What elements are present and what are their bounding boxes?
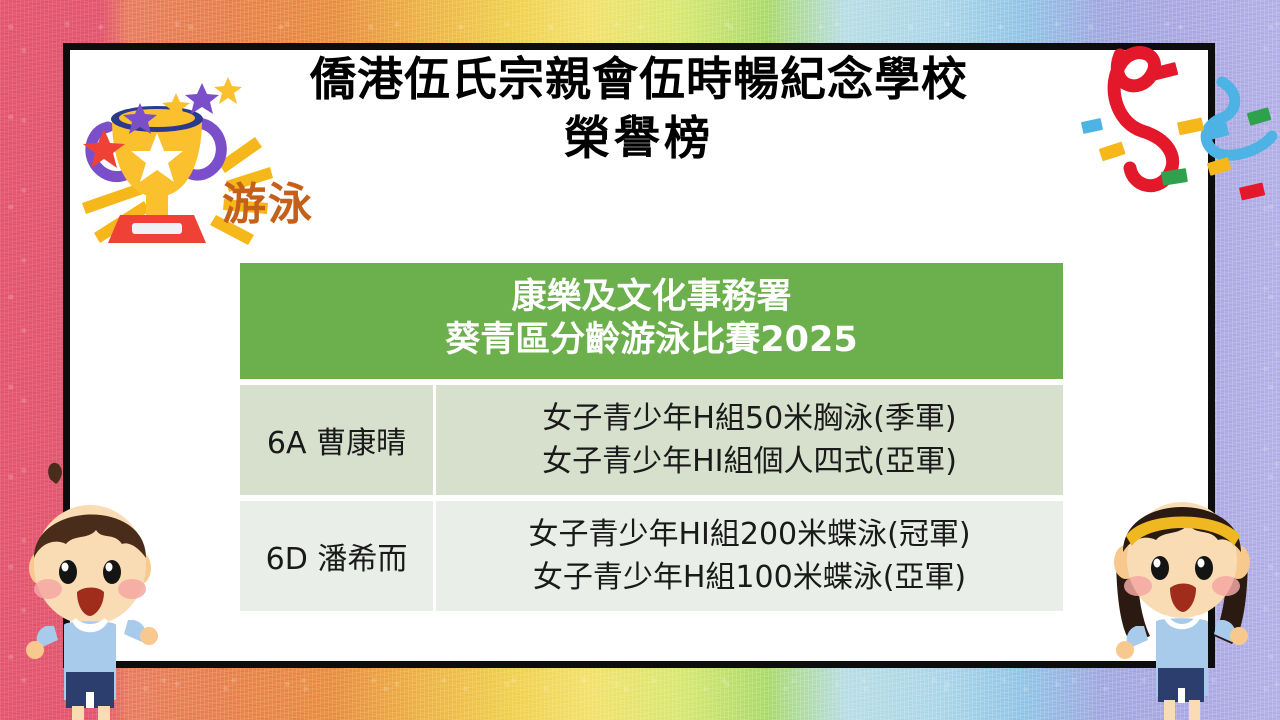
event-entry: 女子青少年HI組個人四式(亞軍)	[444, 440, 1055, 483]
girl-character-icon	[1098, 440, 1273, 720]
header-line-1: 康樂及文化事務署	[250, 276, 1053, 319]
boy-character-icon	[6, 440, 186, 720]
trophy-stem-icon	[146, 195, 168, 217]
event-entry: 女子青少年HI組200米蝶泳(冠軍)	[444, 513, 1055, 556]
student-events: 女子青少年HI組200米蝶泳(冠軍) 女子青少年H組100米蝶泳(亞軍)	[436, 501, 1063, 611]
header-line-2: 葵青區分齡游泳比賽2025	[250, 319, 1053, 362]
table-row: 6A 曹康晴 女子青少年H組50米胸泳(季軍) 女子青少年HI組個人四式(亞軍)	[240, 385, 1063, 495]
event-entry: 女子青少年H組100米蝶泳(亞軍)	[444, 556, 1055, 599]
table-header-row: 康樂及文化事務署 葵青區分齡游泳比賽2025	[240, 263, 1063, 379]
table-header-cell: 康樂及文化事務署 葵青區分齡游泳比賽2025	[240, 263, 1063, 379]
student-name: 6A 曹康晴	[240, 385, 436, 495]
slide-root: 游泳 僑港伍氏宗親會伍時暢紀念學校 榮譽榜 康樂及文化事務署 葵青區分齡游泳比賽…	[0, 0, 1280, 720]
table-row: 6D 潘希而 女子青少年HI組200米蝶泳(冠軍) 女子青少年H組100米蝶泳(…	[240, 501, 1063, 611]
trophy-icon	[70, 75, 370, 260]
sport-label: 游泳	[222, 168, 314, 232]
honour-roll-table: 康樂及文化事務署 葵青區分齡游泳比賽2025 6A 曹康晴 女子青少年H組50米…	[240, 263, 1063, 611]
event-entry: 女子青少年H組50米胸泳(季軍)	[444, 397, 1055, 440]
student-events: 女子青少年H組50米胸泳(季軍) 女子青少年HI組個人四式(亞軍)	[436, 385, 1063, 495]
student-name: 6D 潘希而	[240, 501, 436, 611]
